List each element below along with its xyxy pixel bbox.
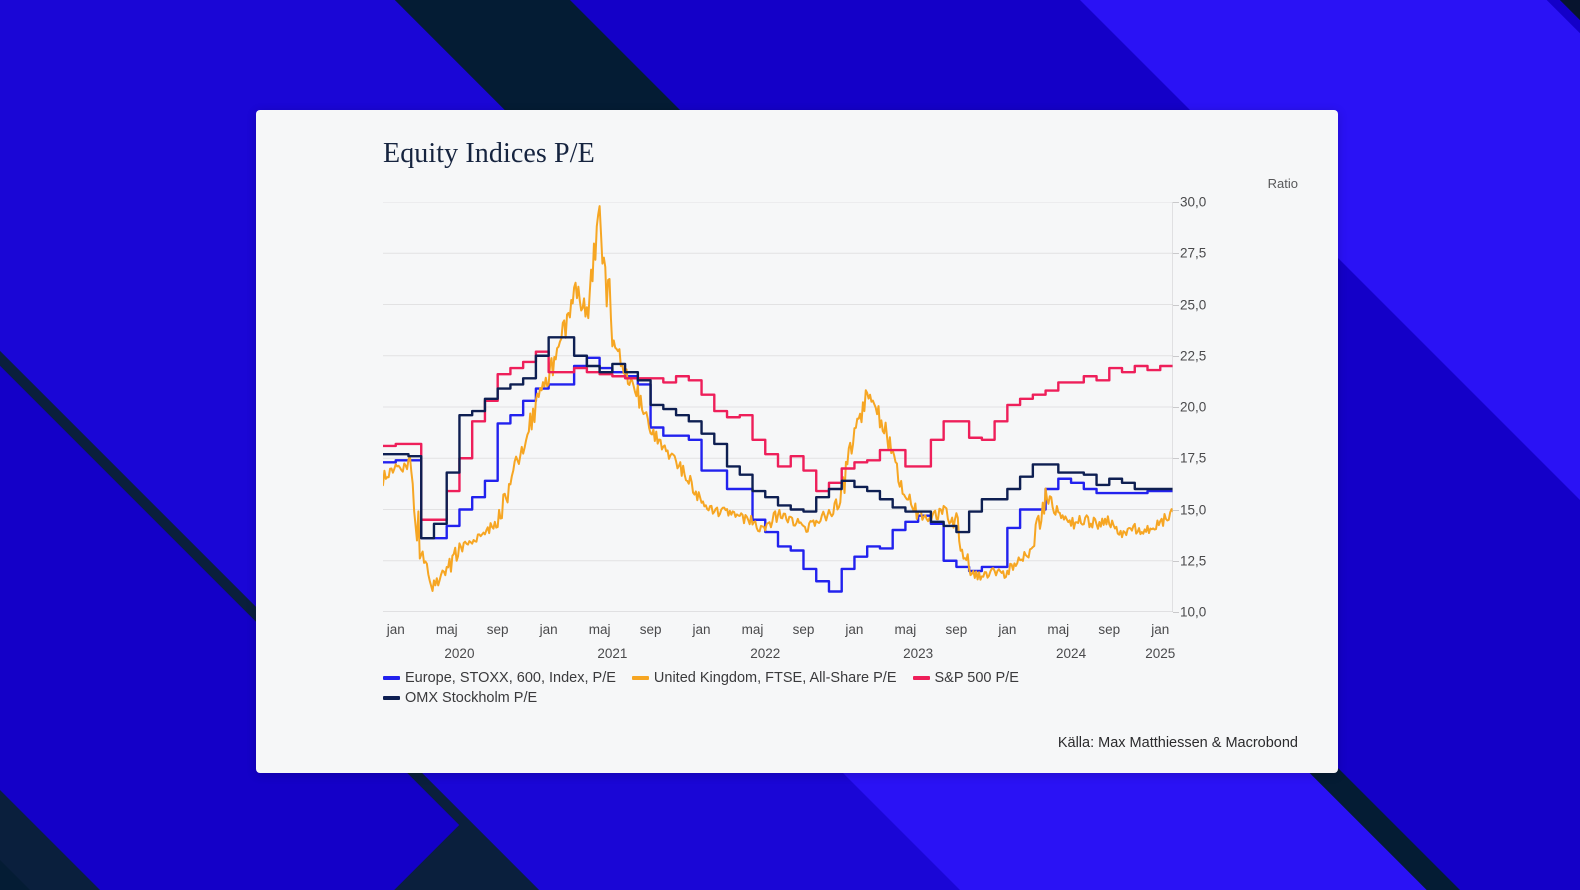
y-tick-mark [1173,305,1179,306]
y-tick-mark [1173,510,1179,511]
y-tick-mark [1173,612,1179,613]
x-tick-label: sep [487,622,509,637]
gridlines [383,202,1173,612]
line-chart-svg [383,202,1173,612]
legend-label: Europe, STOXX, 600, Index, P/E [405,670,616,686]
x-year-label: 2020 [444,646,474,661]
y-tick-label: 22,5 [1180,348,1206,363]
series-lines [383,206,1173,591]
y-axis-unit-label: Ratio [1268,176,1298,191]
y-tick-label: 15,0 [1180,502,1206,517]
page-title: Equity Indices P/E [383,138,595,170]
legend-color-swatch-icon [383,676,400,680]
y-tick-label: 17,5 [1180,451,1206,466]
y-tick-mark [1173,202,1179,203]
source-caption: Källa: Max Matthiessen & Macrobond [1058,735,1298,751]
legend-label: S&P 500 P/E [935,670,1019,686]
y-tick-label: 10,0 [1180,605,1206,620]
y-tick-mark [1173,253,1179,254]
legend-color-swatch-icon [913,676,930,680]
y-tick-label: 25,0 [1180,297,1206,312]
legend-item[interactable]: United Kingdom, FTSE, All-Share P/E [632,670,897,686]
chart-card: Equity Indices P/E Ratio 30,027,525,022,… [256,110,1338,773]
y-tick-label: 12,5 [1180,553,1206,568]
y-tick-mark [1173,458,1179,459]
legend-color-swatch-icon [632,676,649,680]
y-tick-mark [1173,356,1179,357]
x-tick-label: sep [793,622,815,637]
page-background: Equity Indices P/E Ratio 30,027,525,022,… [0,0,1580,890]
x-tick-label: maj [436,622,458,637]
x-tick-label: jan [845,622,863,637]
x-year-label: 2022 [750,646,780,661]
y-tick-mark [1173,561,1179,562]
x-year-label: 2024 [1056,646,1086,661]
series-line-3 [383,337,1173,538]
x-tick-label: maj [589,622,611,637]
x-tick-label: jan [540,622,558,637]
legend-item[interactable]: OMX Stockholm P/E [383,690,537,706]
x-tick-label: jan [1151,622,1169,637]
plot-area [383,202,1173,612]
legend-color-swatch-icon [383,696,400,700]
legend-label: OMX Stockholm P/E [405,690,537,706]
y-tick-mark [1173,407,1179,408]
legend-item[interactable]: S&P 500 P/E [913,670,1019,686]
y-tick-label: 30,0 [1180,195,1206,210]
legend-row: Europe, STOXX, 600, Index, P/EUnited Kin… [383,670,1283,686]
x-year-label: 2023 [903,646,933,661]
y-tick-label: 27,5 [1180,246,1206,261]
x-tick-label: maj [1047,622,1069,637]
x-year-label: 2025 [1145,646,1175,661]
series-line-0 [383,358,1173,592]
x-tick-label: sep [1098,622,1120,637]
x-tick-label: maj [895,622,917,637]
x-tick-label: jan [387,622,405,637]
x-tick-label: sep [945,622,967,637]
x-tick-label: jan [693,622,711,637]
chart-legend: Europe, STOXX, 600, Index, P/EUnited Kin… [383,670,1283,710]
legend-label: United Kingdom, FTSE, All-Share P/E [654,670,897,686]
legend-row: OMX Stockholm P/E [383,690,1283,706]
x-tick-label: sep [640,622,662,637]
legend-item[interactable]: Europe, STOXX, 600, Index, P/E [383,670,616,686]
y-tick-label: 20,0 [1180,400,1206,415]
x-tick-label: jan [998,622,1016,637]
x-year-label: 2021 [597,646,627,661]
x-tick-label: maj [742,622,764,637]
series-line-2 [383,352,1173,520]
